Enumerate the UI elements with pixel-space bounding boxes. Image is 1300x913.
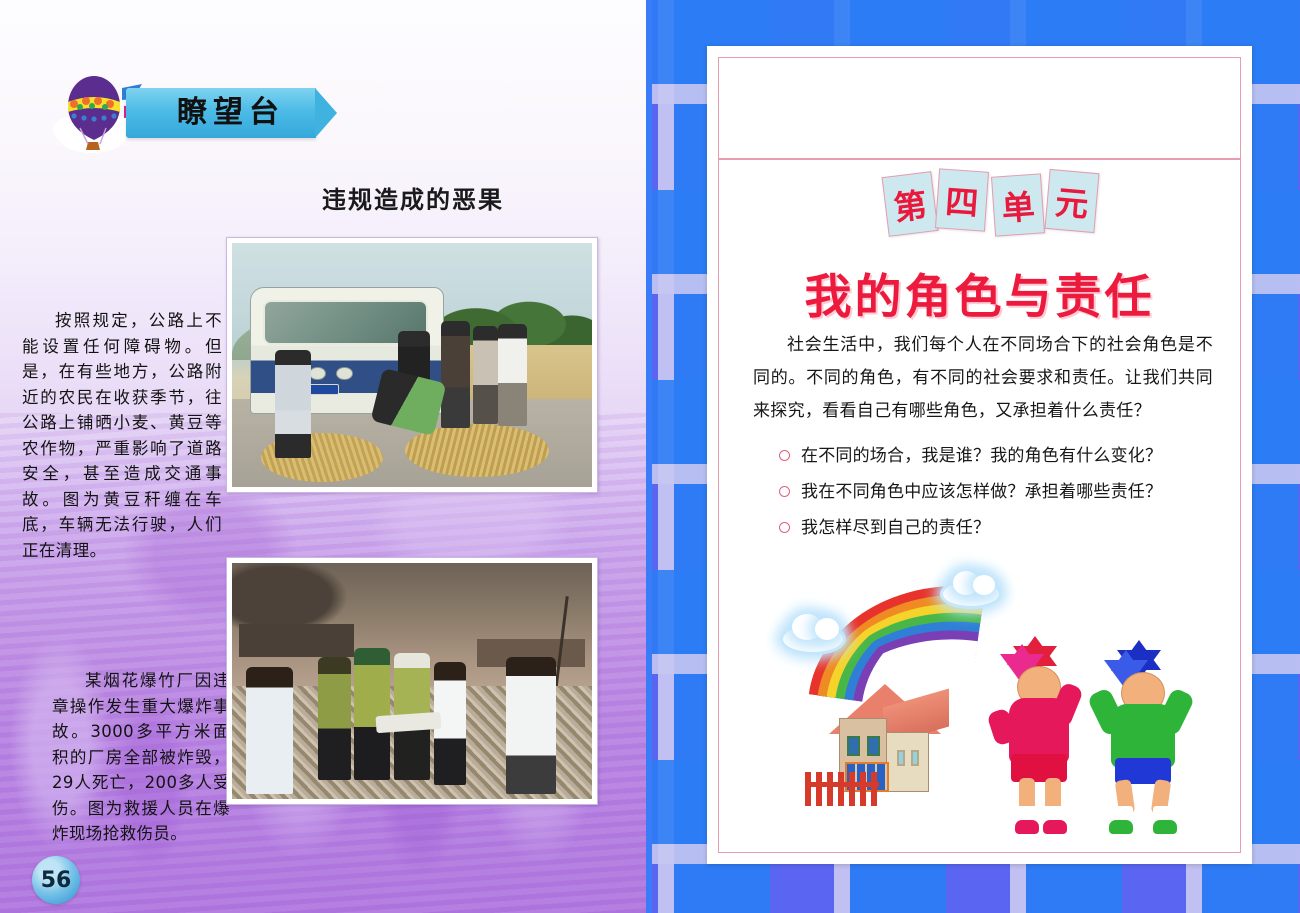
cloud-icon (943, 582, 999, 606)
unit-title: 我的角色与责任 (707, 258, 1252, 327)
right-page: 第 四 单 元 我的角色与责任 社会生活中，我们每个人在不同场合下的社会角色是不… (652, 0, 1300, 913)
boy-clay-figure (1087, 640, 1205, 842)
house-icon (821, 684, 957, 804)
unit-opener-card: 第 四 单 元 我的角色与责任 社会生活中，我们每个人在不同场合下的社会角色是不… (707, 46, 1252, 864)
card-horizontal-rule (718, 158, 1241, 160)
girl-clay-figure (987, 636, 1095, 842)
unit-number-cards: 第 四 单 元 (885, 166, 1115, 238)
unit-card-char-2: 四 (935, 168, 989, 231)
lookout-header: 瞭望台 (38, 66, 298, 162)
question-text-2: 我在不同角色中应该怎样做？承担着哪些责任？ (801, 474, 1162, 510)
left-page: 瞭望台 违规造成的恶果 按照规定，公路上不能设置任何障碍物。但是，在有些地方，公… (0, 0, 652, 913)
circle-bullet-icon (779, 486, 790, 497)
fence-icon (805, 772, 879, 806)
question-item-1: 在不同的场合，我是谁？我的角色有什么变化？ (779, 438, 1229, 474)
page-number: 56 (32, 856, 80, 904)
intro-paragraph: 社会生活中，我们每个人在不同场合下的社会角色是不同的。不同的角色，有不同的社会要… (753, 329, 1213, 428)
textbook-spread: 瞭望台 违规造成的恶果 按照规定，公路上不能设置任何障碍物。但是，在有些地方，公… (0, 0, 1300, 913)
question-item-2: 我在不同角色中应该怎样做？承担着哪些责任？ (779, 474, 1229, 510)
circle-bullet-icon (779, 522, 790, 533)
photo-bus-straw-road (226, 237, 598, 493)
question-list: 在不同的场合，我是谁？我的角色有什么变化？ 我在不同角色中应该怎样做？承担着哪些… (779, 438, 1229, 546)
section-title: 违规造成的恶果 (248, 180, 578, 215)
question-item-3: 我怎样尽到自己的责任？ (779, 510, 1229, 546)
question-text-3: 我怎样尽到自己的责任？ (801, 510, 990, 546)
left-paragraph-2: 某烟花爆竹厂因违章操作发生重大爆炸事故。3000多平方米面积的厂房全部被炸毁，2… (52, 668, 230, 847)
photo-explosion-rescue (226, 557, 598, 805)
unit-card-char-1: 第 (882, 171, 939, 237)
unit-card-char-3: 单 (991, 173, 1045, 236)
left-paragraph-1: 按照规定，公路上不能设置任何障碍物。但是，在有些地方，公路附近的农民在收获季节，… (22, 308, 222, 563)
unit-card-char-4: 元 (1044, 169, 1099, 233)
question-text-1: 在不同的场合，我是谁？我的角色有什么变化？ (801, 438, 1162, 474)
cloud-icon (783, 626, 843, 652)
circle-bullet-icon (779, 450, 790, 461)
lookout-banner-label: 瞭望台 (146, 94, 316, 132)
clay-figures-illustration (769, 580, 1197, 848)
